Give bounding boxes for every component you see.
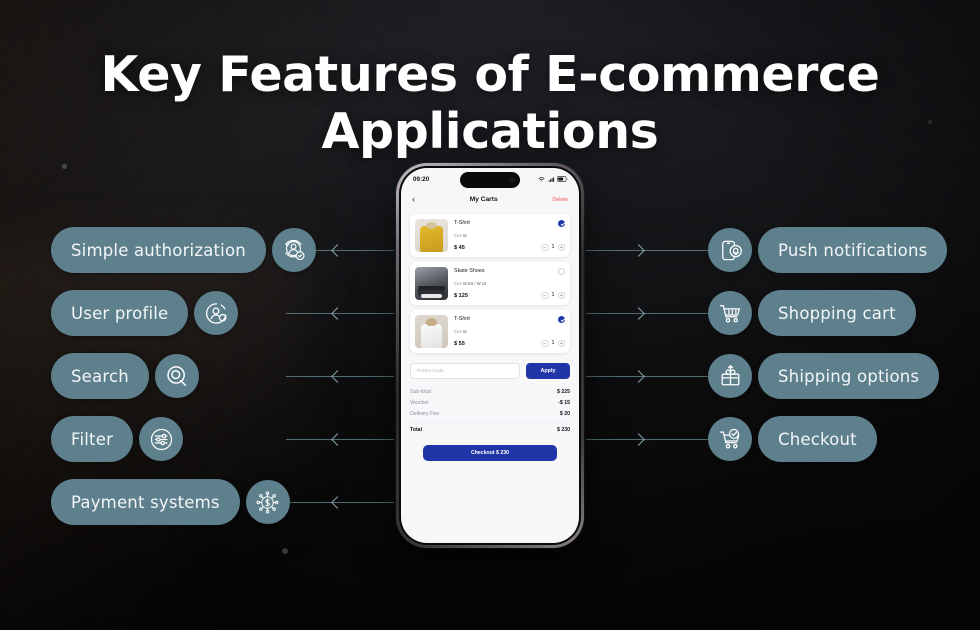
cart-item[interactable]: Skate Shoes Size M 9.5 / W 12 $ 125 − 1 …: [410, 262, 570, 305]
increase-quantity-button[interactable]: +: [558, 340, 566, 348]
phone-bezel: 09:20: [399, 166, 581, 545]
product-thumbnail: [415, 267, 448, 300]
feature-label-pill: Search: [51, 353, 149, 399]
promo-code-input[interactable]: Promo Code: [410, 363, 520, 379]
product-details: Skate Shoes Size M 9.5 / W 12 $ 125: [454, 267, 535, 300]
product-name: Skate Shoes: [454, 268, 535, 274]
feature-label-pill: Push notifications: [758, 227, 947, 273]
shopping-cart-icon: [708, 291, 752, 335]
feature-filter[interactable]: Filter: [51, 416, 183, 462]
screen-title: My Carts: [470, 196, 498, 203]
product-thumbnail: [415, 219, 448, 252]
feature-label-pill: Shopping cart: [758, 290, 916, 336]
feature-label-pill: Payment systems: [51, 479, 240, 525]
product-price: $ 55: [454, 341, 535, 347]
order-summary: Sub-total $ 225 Voucher -$ 15 Delivery F…: [401, 379, 579, 435]
quantity-value: 1: [552, 292, 555, 298]
promo-code-row: Promo Code Apply: [401, 353, 579, 379]
delete-button[interactable]: Delete: [552, 197, 568, 203]
product-size-value: M: [463, 233, 466, 238]
feature-label-pill: Shipping options: [758, 353, 939, 399]
product-details: T-Shirt Size M $ 55: [454, 315, 535, 348]
filter-sliders-icon: [139, 417, 183, 461]
feature-label-pill: Filter: [51, 416, 133, 462]
connector-line-right-4: [586, 439, 708, 440]
select-checkbox[interactable]: [558, 220, 565, 227]
feature-push-notifications[interactable]: Push notifications: [708, 227, 947, 273]
summary-row: Delivery Fee $ 20: [410, 409, 570, 420]
phone-bell-icon: [708, 228, 752, 272]
total-label: Total: [410, 427, 422, 433]
product-price: $ 45: [454, 245, 535, 251]
product-name: T-Shirt: [454, 220, 535, 226]
wifi-icon: [538, 176, 545, 183]
product-size-label: Size: [454, 281, 462, 286]
feature-shopping-cart[interactable]: Shopping cart: [708, 290, 916, 336]
cart-item[interactable]: T-Shirt Size M $ 55 − 1 +: [410, 310, 570, 353]
decrease-quantity-button[interactable]: −: [541, 340, 549, 348]
decrease-quantity-button[interactable]: −: [541, 244, 549, 252]
summary-row: Sub-total $ 225: [410, 387, 570, 398]
gift-box-icon: [708, 354, 752, 398]
quantity-value: 1: [552, 340, 555, 346]
feature-search[interactable]: Search: [51, 353, 199, 399]
product-size-label: Size: [454, 329, 462, 334]
quantity-stepper[interactable]: − 1 +: [541, 244, 565, 252]
decorative-dot: [62, 164, 67, 169]
user-profile-icon: [194, 291, 238, 335]
summary-label: Delivery Fee: [410, 411, 439, 417]
feature-user-profile[interactable]: User profile: [51, 290, 238, 336]
feature-simple-authorization[interactable]: Simple authorization: [51, 227, 316, 273]
feature-shipping-options[interactable]: Shipping options: [708, 353, 939, 399]
increase-quantity-button[interactable]: +: [558, 244, 566, 252]
product-controls: − 1 +: [541, 315, 565, 348]
app-navbar: ‹ My Carts Delete: [401, 190, 579, 209]
battery-icon: [557, 176, 568, 182]
product-size: Size M: [454, 233, 535, 238]
summary-divider: [410, 422, 570, 423]
summary-row: Voucher -$ 15: [410, 398, 570, 409]
page-title: Key Features of E-commerce Applications: [0, 46, 980, 160]
product-size: Size M: [454, 329, 535, 334]
product-controls: − 1 +: [541, 267, 565, 300]
summary-value: -$ 15: [558, 400, 570, 406]
product-name: T-Shirt: [454, 316, 535, 322]
product-thumbnail: [415, 315, 448, 348]
feature-label-pill: User profile: [51, 290, 188, 336]
product-size-label: Size: [454, 233, 462, 238]
status-bar-time: 09:20: [413, 176, 429, 183]
back-button[interactable]: ‹: [412, 195, 415, 204]
select-checkbox[interactable]: [558, 268, 565, 275]
feature-payment-systems[interactable]: Payment systems: [51, 479, 290, 525]
connector-line-right-1: [586, 250, 708, 251]
product-details: T-Shirt Size M $ 45: [454, 219, 535, 252]
summary-label: Sub-total: [410, 389, 431, 395]
product-size: Size M 9.5 / W 12: [454, 281, 535, 286]
phone-mockup: 09:20: [396, 163, 584, 548]
connector-line-right-3: [586, 376, 708, 377]
decrease-quantity-button[interactable]: −: [541, 292, 549, 300]
checkout-button[interactable]: Checkout $ 230: [423, 445, 557, 461]
payment-network-icon: [246, 480, 290, 524]
summary-total-row: Total $ 230: [410, 424, 570, 435]
connector-line-right-2: [586, 313, 708, 314]
increase-quantity-button[interactable]: +: [558, 292, 566, 300]
dynamic-island: [460, 172, 520, 188]
decorative-dot: [282, 548, 288, 554]
feature-label-pill: Checkout: [758, 416, 877, 462]
summary-label: Voucher: [410, 400, 429, 406]
cart-item[interactable]: T-Shirt Size M $ 45 − 1 +: [410, 214, 570, 257]
cart-item-list: T-Shirt Size M $ 45 − 1 + Skate Shoes: [401, 209, 579, 353]
product-size-value: M 9.5 / W 12: [463, 281, 486, 286]
feature-checkout[interactable]: Checkout: [708, 416, 877, 462]
checkout-button-wrap: Checkout $ 230: [401, 435, 579, 461]
user-verified-icon: [272, 228, 316, 272]
total-value: $ 230: [557, 427, 570, 433]
status-bar-icons: [538, 176, 568, 183]
quantity-value: 1: [552, 244, 555, 250]
phone-screen: 09:20: [401, 168, 579, 543]
summary-value: $ 20: [560, 411, 570, 417]
apply-promo-button[interactable]: Apply: [526, 363, 570, 379]
search-icon: [155, 354, 199, 398]
status-bar: 09:20: [401, 168, 579, 190]
select-checkbox[interactable]: [558, 316, 565, 323]
product-controls: − 1 +: [541, 219, 565, 252]
feature-label-pill: Simple authorization: [51, 227, 266, 273]
cart-check-icon: [708, 417, 752, 461]
product-size-value: M: [463, 329, 466, 334]
summary-value: $ 225: [557, 389, 570, 395]
product-price: $ 125: [454, 293, 535, 299]
quantity-stepper[interactable]: − 1 +: [541, 340, 565, 348]
quantity-stepper[interactable]: − 1 +: [541, 292, 565, 300]
cellular-icon: [548, 176, 555, 183]
